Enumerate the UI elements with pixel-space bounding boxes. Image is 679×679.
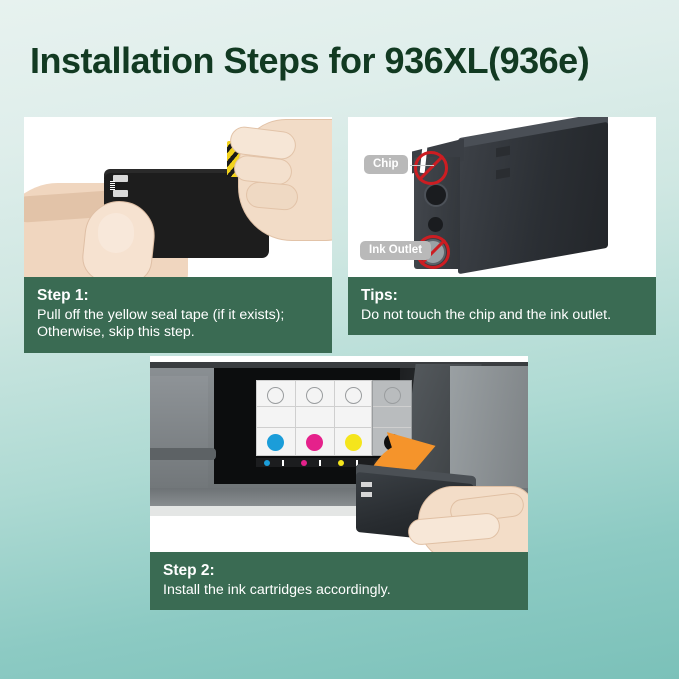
strip-dot-magenta bbox=[301, 460, 307, 466]
strip-tick-2 bbox=[319, 460, 321, 466]
strip-dot-cyan bbox=[264, 460, 270, 466]
page-title: Installation Steps for 936XL(936e) bbox=[30, 40, 670, 82]
step-1-caption-line-1: Pull off the yellow seal tape (if it exi… bbox=[37, 307, 319, 325]
cartridge-chip-contact-upper bbox=[113, 175, 128, 182]
slot-ring-cyan bbox=[267, 387, 284, 404]
bay-divider-1 bbox=[373, 406, 411, 407]
step-2-caption-body: Install the ink cartridges accordingly. bbox=[163, 582, 515, 600]
left-thumb-nail bbox=[98, 213, 134, 253]
held-cartridge-chip-1 bbox=[361, 482, 372, 487]
no-touch-chip-icon bbox=[414, 151, 448, 185]
step-1-illustration bbox=[24, 117, 332, 277]
step-2-caption-title: Step 2: bbox=[163, 561, 515, 581]
step-1-caption-line-2: Otherwise, skip this step. bbox=[37, 324, 319, 342]
slot-row-divider-1 bbox=[257, 406, 371, 407]
slot-divider-2 bbox=[334, 381, 335, 455]
cartridge-chip-contact-lower bbox=[113, 190, 128, 197]
panel-tips: Chip Ink Outlet Tips: Do not touch the c… bbox=[348, 117, 656, 335]
tips-caption-body: Do not touch the chip and the ink outlet… bbox=[361, 307, 643, 325]
ink-outlet-label-badge: Ink Outlet bbox=[360, 241, 431, 260]
printer-right-panel bbox=[450, 366, 528, 488]
cartridge-chip-lines bbox=[110, 181, 115, 190]
cartridge-port-small bbox=[428, 217, 443, 232]
step-1-caption: Step 1: Pull off the yellow seal tape (i… bbox=[24, 277, 332, 353]
tips-caption-title: Tips: bbox=[361, 286, 643, 306]
slot-ring-yellow bbox=[345, 387, 362, 404]
step-1-caption-title: Step 1: bbox=[37, 286, 319, 306]
cartridge-body-3d bbox=[458, 122, 608, 274]
chip-leader-line bbox=[410, 165, 434, 166]
slot-divider-1 bbox=[295, 381, 296, 455]
ink-dot-magenta bbox=[306, 434, 323, 451]
slot-ring-black bbox=[384, 387, 401, 404]
chip-label-badge: Chip bbox=[364, 155, 408, 174]
strip-tick-1 bbox=[282, 460, 284, 466]
held-cartridge-chip-2 bbox=[361, 492, 372, 497]
step-2-illustration bbox=[150, 356, 528, 552]
cartridge-port-large bbox=[424, 183, 448, 207]
right-hand-finger-3 bbox=[245, 181, 299, 211]
panel-step-2: Step 2: Install the ink cartridges accor… bbox=[150, 356, 528, 610]
printer-left-edge bbox=[150, 448, 216, 460]
panel-step-1: Step 1: Pull off the yellow seal tape (i… bbox=[24, 117, 332, 353]
ink-dot-cyan bbox=[267, 434, 284, 451]
tips-caption: Tips: Do not touch the chip and the ink … bbox=[348, 277, 656, 335]
printer-left-panel bbox=[150, 376, 208, 488]
slot-ring-magenta bbox=[306, 387, 323, 404]
tips-illustration: Chip Ink Outlet bbox=[348, 117, 656, 277]
step-2-caption: Step 2: Install the ink cartridges accor… bbox=[150, 552, 528, 610]
